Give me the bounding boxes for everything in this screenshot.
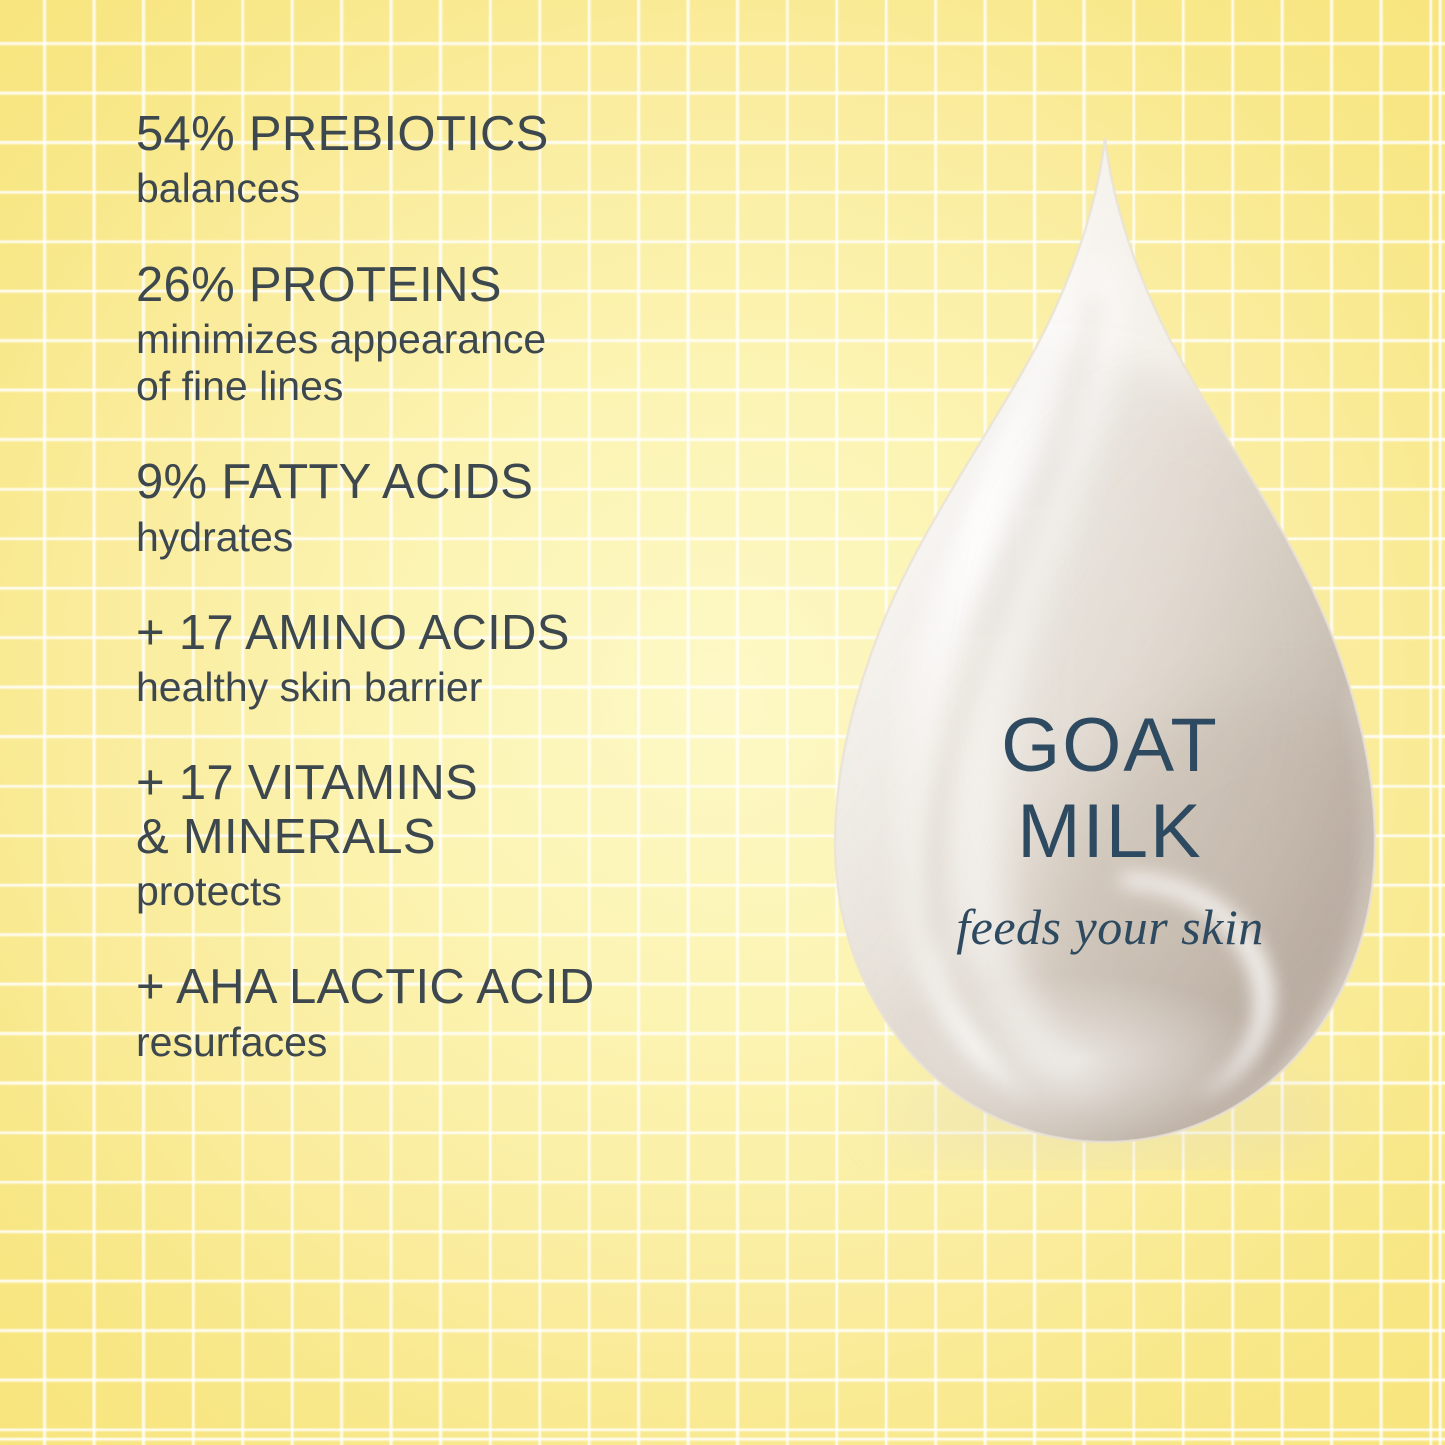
ingredient-item-prebiotics: 54% PREBIOTICS balances (136, 108, 836, 213)
ingredient-benefit: balances (136, 165, 836, 212)
ingredient-item-proteins: 26% PROTEINS minimizes appearance of fin… (136, 259, 836, 411)
product-infographic: GOAT MILK feeds your skin 54% PREBIOTICS… (0, 0, 1445, 1445)
ingredient-benefit: hydrates (136, 514, 836, 561)
ingredient-item-vitamins-minerals: + 17 VITAMINS & MINERALS protects (136, 757, 836, 915)
ingredient-headline: + AHA LACTIC ACID (136, 961, 836, 1014)
ingredient-item-amino-acids: + 17 AMINO ACIDS healthy skin barrier (136, 607, 836, 712)
ingredient-list: 54% PREBIOTICS balances 26% PROTEINS min… (136, 108, 836, 1066)
ingredient-benefit: protects (136, 868, 836, 915)
ingredient-item-fatty-acids: 9% FATTY ACIDS hydrates (136, 456, 836, 561)
ingredient-headline: + 17 VITAMINS & MINERALS (136, 757, 836, 864)
ingredient-item-aha-lactic-acid: + AHA LACTIC ACID resurfaces (136, 961, 836, 1066)
ingredient-benefit: resurfaces (136, 1019, 836, 1066)
milk-droplet-graphic (800, 130, 1420, 1170)
ingredient-headline: 9% FATTY ACIDS (136, 456, 836, 509)
ingredient-headline: 26% PROTEINS (136, 259, 836, 312)
ingredient-benefit: healthy skin barrier (136, 664, 836, 711)
ingredient-headline: + 17 AMINO ACIDS (136, 607, 836, 660)
ingredient-headline: 54% PREBIOTICS (136, 108, 836, 161)
ingredient-benefit: minimizes appearance of fine lines (136, 316, 836, 410)
